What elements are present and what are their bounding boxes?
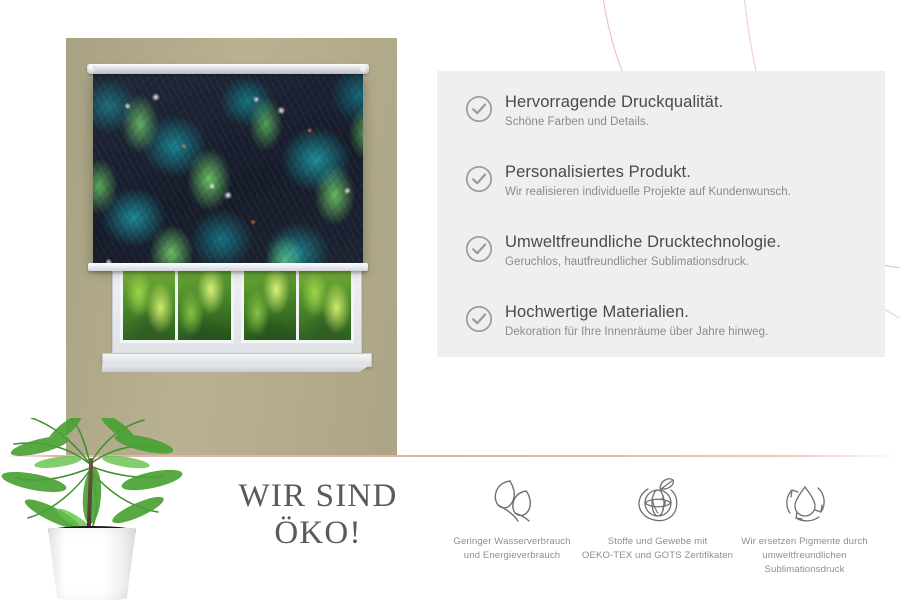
eco-caption: Geringer Wasserverbrauch und Energieverb… <box>432 535 592 563</box>
feature-subtitle: Geruchlos, hautfreundlicher Sublimations… <box>505 255 781 269</box>
eco-heading: WIR SIND ÖKO! <box>218 478 418 553</box>
window-glass-right <box>244 268 352 340</box>
promo-banner: Hervorragende Druckqualität. Schöne Farb… <box>0 0 900 600</box>
water-drop-recycle-icon <box>722 470 887 528</box>
feature-item: Personalisiertes Produkt. Wir realisiere… <box>465 163 865 199</box>
eco-heading-line2: ÖKO! <box>218 515 418 552</box>
eco-caption-line1: Stoffe und Gewebe mit <box>575 535 740 549</box>
feature-subtitle: Dekoration für Ihre Innenräume über Jahr… <box>505 325 768 339</box>
plant-pot <box>44 528 140 600</box>
two-leaves-icon <box>432 470 592 528</box>
roller-blind-top-bar <box>87 64 369 74</box>
check-circle-icon <box>465 165 493 198</box>
eco-column-water: Geringer Wasserverbrauch und Energieverb… <box>432 470 592 563</box>
feature-title: Umweltfreundliche Drucktechnologie. <box>505 233 781 252</box>
eco-caption-line2: OEKO-TEX und GOTS Zertifikaten <box>575 549 740 563</box>
feature-title: Hervorragende Druckqualität. <box>505 93 723 112</box>
eco-heading-line1: WIR SIND <box>218 478 418 515</box>
eco-caption-line2: umweltfreundlichen <box>722 549 887 563</box>
globe-leaf-icon <box>575 470 740 528</box>
roller-blind-bottom-rail <box>88 263 368 271</box>
window <box>112 258 362 373</box>
feature-item: Hervorragende Druckqualität. Schöne Farb… <box>465 93 865 129</box>
potted-palm-plant <box>0 418 202 600</box>
eco-caption: Stoffe und Gewebe mit OEKO-TEX und GOTS … <box>575 535 740 563</box>
eco-column-pigments: Wir ersetzen Pigmente durch umweltfreund… <box>722 470 887 577</box>
eco-column-certificates: Stoffe und Gewebe mit OEKO-TEX und GOTS … <box>575 470 740 563</box>
window-glass-left <box>123 268 231 340</box>
eco-caption-line1: Wir ersetzen Pigmente durch <box>722 535 887 549</box>
window-sash-left <box>120 265 234 343</box>
check-circle-icon <box>465 305 493 338</box>
check-circle-icon <box>465 95 493 128</box>
feature-item: Hochwertige Materialien. Dekoration für … <box>465 303 865 339</box>
feature-subtitle: Wir realisieren individuelle Projekte au… <box>505 185 791 199</box>
eco-caption-line3: Sublimationsdruck <box>722 563 887 577</box>
window-sash-right <box>241 265 355 343</box>
window-sill <box>102 353 372 367</box>
check-circle-icon <box>465 235 493 268</box>
eco-caption-line1: Geringer Wasserverbrauch <box>432 535 592 549</box>
roller-blind-fabric <box>93 72 363 265</box>
window-frame <box>112 258 362 354</box>
feature-title: Personalisiertes Produkt. <box>505 163 791 182</box>
eco-caption-line2: und Energieverbrauch <box>432 549 592 563</box>
window-sill-edge <box>102 365 370 372</box>
roller-blind <box>93 72 363 265</box>
feature-item: Umweltfreundliche Drucktechnologie. Geru… <box>465 233 875 269</box>
feature-title: Hochwertige Materialien. <box>505 303 768 322</box>
features-panel: Hervorragende Druckqualität. Schöne Farb… <box>437 71 885 357</box>
eco-caption: Wir ersetzen Pigmente durch umweltfreund… <box>722 535 887 577</box>
feature-subtitle: Schöne Farben und Details. <box>505 115 723 129</box>
